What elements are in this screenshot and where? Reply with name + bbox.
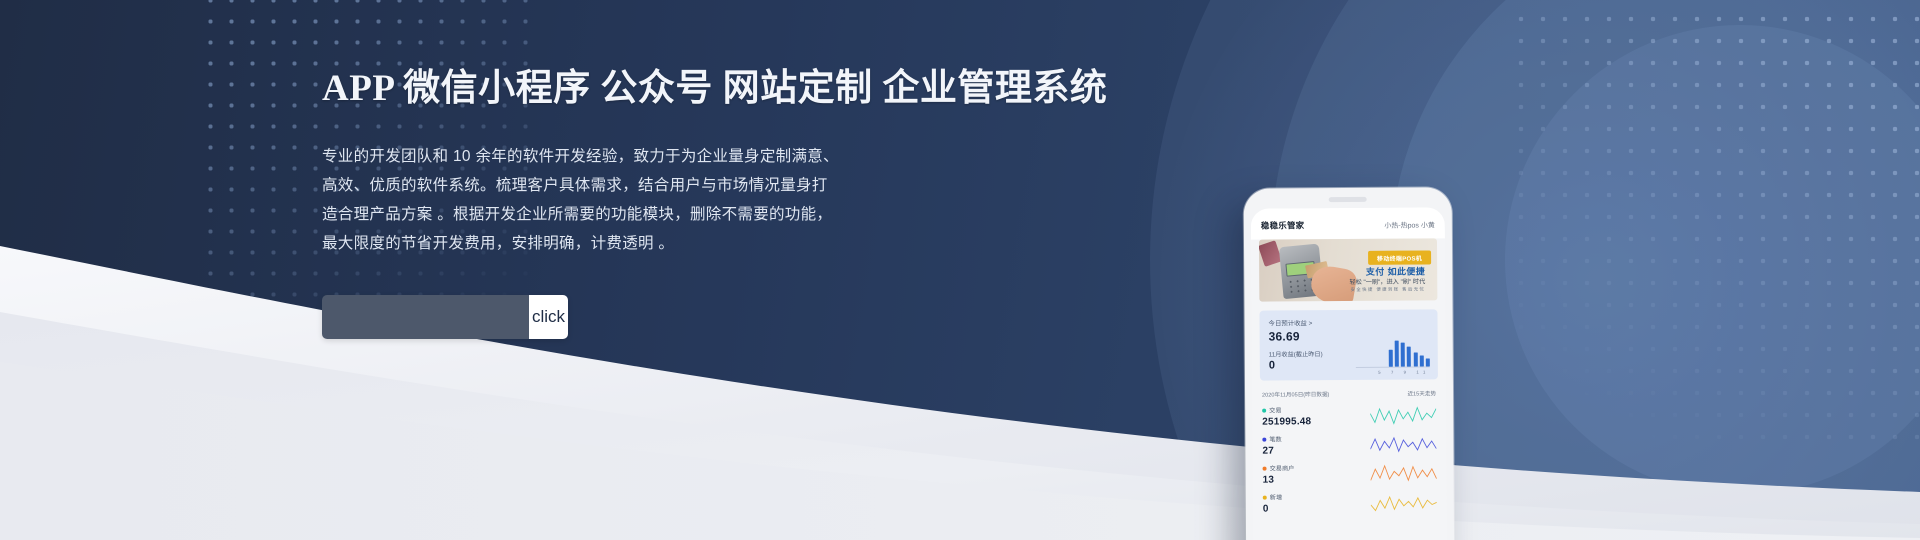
- stat-value: 13: [1263, 474, 1295, 485]
- minichart-bar: [1389, 350, 1393, 367]
- minichart-bar: [1420, 356, 1424, 367]
- hero-description: 专业的开发团队和 10 余年的软件开发经验，致力于为企业量身定制满意、 高效、优…: [322, 142, 942, 258]
- app-user-label: 小热-热pos 小黄: [1384, 220, 1435, 230]
- hero-content: APP 微信小程序 公众号 网站定制 企业管理系统 专业的开发团队和 10 余年…: [322, 66, 1082, 339]
- stat-color-dot-icon: [1263, 495, 1267, 499]
- phone-body: 稳稳乐管家 小热-热pos 小黄 移动终端POS机 支付 如此便捷 轻松 "一刷…: [1244, 187, 1455, 540]
- stat-name-label: 交易: [1269, 405, 1281, 414]
- stat-left: 笔数27: [1262, 434, 1282, 456]
- today-earnings-label: 今日预计收益 >: [1269, 317, 1429, 327]
- minichart-bars: [1389, 340, 1430, 366]
- stat-row[interactable]: 新增0: [1253, 488, 1447, 518]
- phone-screen: 稳稳乐管家 小热-热pos 小黄 移动终端POS机 支付 如此便捷 轻松 "一刷…: [1251, 207, 1448, 540]
- search-input[interactable]: [322, 295, 529, 339]
- stat-sparkline: [1371, 462, 1437, 484]
- stat-value: 0: [1263, 503, 1282, 514]
- description-line-4: 最大限度的节省开发费用，安排明确，计费透明 。: [322, 229, 942, 258]
- minichart-bar: [1401, 343, 1405, 367]
- stat-row[interactable]: 笔数27: [1252, 430, 1446, 460]
- hero-banner: APP 微信小程序 公众号 网站定制 企业管理系统 专业的开发团队和 10 余年…: [0, 0, 1920, 540]
- stat-left: 新增0: [1263, 492, 1283, 514]
- stat-sparkline: [1370, 404, 1436, 426]
- stat-row[interactable]: 交易251995.48: [1252, 401, 1446, 431]
- stat-name: 交易: [1262, 405, 1311, 414]
- search-bar: click: [322, 295, 568, 339]
- stat-left: 交易251995.48: [1262, 405, 1311, 427]
- click-button[interactable]: click: [529, 295, 568, 339]
- banner-tags: 安全快捷 便捷到账 售后无忧: [1351, 286, 1426, 293]
- stat-color-dot-icon: [1262, 437, 1266, 441]
- stats-date-label: 2020年11月05日(昨日数据): [1262, 390, 1329, 398]
- minichart-bar: [1413, 352, 1417, 366]
- description-line-3: 造合理产品方案 。根据开发企业所需要的功能模块，删除不需要的功能，: [322, 200, 942, 229]
- minichart-axis-labels: 5 7 9 11: [1378, 369, 1430, 374]
- description-line-1: 专业的开发团队和 10 余年的软件开发经验，致力于为企业量身定制满意、: [322, 142, 942, 171]
- stats-list: 交易251995.48笔数27交易商户13新增0: [1252, 401, 1447, 518]
- page-title: APP 微信小程序 公众号 网站定制 企业管理系统: [322, 66, 1082, 112]
- stats-trend-label: 近15天走势: [1407, 389, 1436, 397]
- stats-header: 2020年11月05日(昨日数据) 近15天走势: [1252, 379, 1446, 402]
- app-title: 稳稳乐管家: [1261, 219, 1305, 231]
- earnings-card[interactable]: 今日预计收益 > 36.69 11月收益(截止昨日) 0 5 7 9 11: [1259, 309, 1437, 380]
- stat-name: 交易商户: [1263, 463, 1295, 472]
- stat-left: 交易商户13: [1263, 463, 1295, 485]
- promo-banner[interactable]: 移动终端POS机 支付 如此便捷 轻松 "一刷"，进入 "刷" 时代 安全快捷 …: [1259, 238, 1437, 301]
- banner-badge: 移动终端POS机: [1368, 250, 1431, 264]
- stat-name: 笔数: [1262, 434, 1281, 443]
- description-line-2: 高效、优质的软件系统。梳理客户具体需求，结合用户与市场情况量身打: [322, 171, 942, 200]
- minichart-bar: [1395, 341, 1399, 367]
- stat-name: 新增: [1263, 492, 1282, 501]
- stat-name-label: 交易商户: [1270, 463, 1295, 472]
- stat-name-label: 笔数: [1269, 434, 1281, 443]
- app-header: 稳稳乐管家 小热-热pos 小黄: [1251, 207, 1445, 239]
- minichart-bar: [1426, 358, 1430, 366]
- phone-mockup: 稳稳乐管家 小热-热pos 小黄 移动终端POS机 支付 如此便捷 轻松 "一刷…: [1244, 187, 1455, 540]
- stat-value: 251995.48: [1262, 416, 1311, 427]
- stat-sparkline: [1371, 491, 1437, 513]
- minichart-bar: [1407, 346, 1411, 366]
- stat-value: 27: [1262, 445, 1281, 456]
- banner-subtitle: 轻松 "一刷"，进入 "刷" 时代: [1349, 276, 1425, 286]
- stat-color-dot-icon: [1262, 408, 1266, 412]
- stat-color-dot-icon: [1263, 466, 1267, 470]
- stat-row[interactable]: 交易商户13: [1253, 459, 1447, 489]
- stat-name-label: 新增: [1270, 492, 1282, 501]
- stat-sparkline: [1370, 433, 1436, 455]
- phone-speaker-icon: [1329, 197, 1367, 202]
